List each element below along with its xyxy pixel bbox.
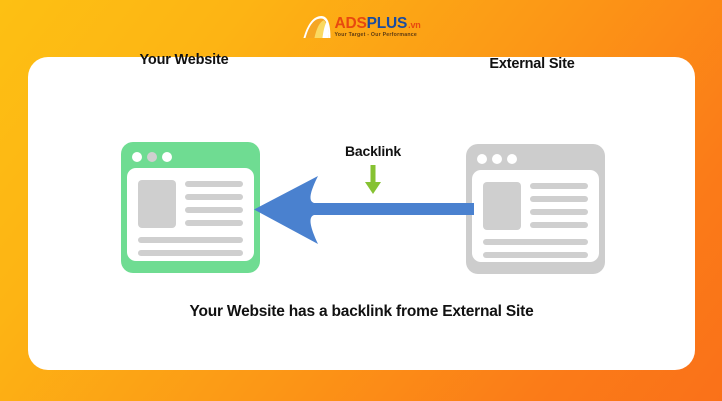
page-image-placeholder <box>483 182 521 230</box>
text-line <box>530 196 588 202</box>
page-text-lines <box>185 180 243 228</box>
window-controls <box>127 148 254 168</box>
text-line <box>185 194 243 200</box>
window-controls <box>472 150 599 170</box>
text-line <box>530 222 588 228</box>
pointer-arrow-down-icon <box>364 165 382 195</box>
external-site-label: External Site <box>452 56 612 72</box>
brand-name-plus: PLUS <box>367 16 408 32</box>
text-line <box>138 250 243 256</box>
adsplus-logo: ADSPLUS.vn Your Target - Our Performance <box>301 12 420 42</box>
window-dot-maximize-icon <box>162 152 172 162</box>
window-dot-minimize-icon <box>492 154 502 164</box>
page-text-lines <box>530 182 588 230</box>
window-dot-minimize-icon <box>147 152 157 162</box>
text-line <box>483 239 588 245</box>
backlink-annotation: Backlink <box>318 143 428 195</box>
your-website-label: Your Website <box>104 52 264 68</box>
text-line <box>483 252 588 258</box>
text-line <box>185 181 243 187</box>
external-site-browser-window <box>466 144 605 274</box>
page-bottom-lines <box>483 239 588 258</box>
window-dot-close-icon <box>477 154 487 164</box>
text-line <box>138 237 243 243</box>
text-line <box>185 207 243 213</box>
brand-wordmark: ADSPLUS.vn Your Target - Our Performance <box>334 16 420 38</box>
window-dot-maximize-icon <box>507 154 517 164</box>
page-top-section <box>483 182 588 230</box>
page-content <box>472 170 599 262</box>
text-line <box>530 209 588 215</box>
window-dot-close-icon <box>132 152 142 162</box>
your-website-browser-window <box>121 142 260 273</box>
brand-tld: .vn <box>408 21 420 30</box>
backlink-infographic: ADSPLUS.vn Your Target - Our Performance… <box>0 0 722 401</box>
brand-name-ads: ADS <box>334 16 366 32</box>
backlink-label: Backlink <box>318 143 428 159</box>
page-content <box>127 168 254 261</box>
diagram-caption: Your Website has a backlink frome Extern… <box>28 303 695 321</box>
page-image-placeholder <box>138 180 176 228</box>
page-bottom-lines <box>138 237 243 256</box>
adsplus-swoosh-icon <box>301 14 331 40</box>
page-top-section <box>138 180 243 228</box>
text-line <box>185 220 243 226</box>
brand-tagline: Your Target - Our Performance <box>334 33 417 38</box>
text-line <box>530 183 588 189</box>
